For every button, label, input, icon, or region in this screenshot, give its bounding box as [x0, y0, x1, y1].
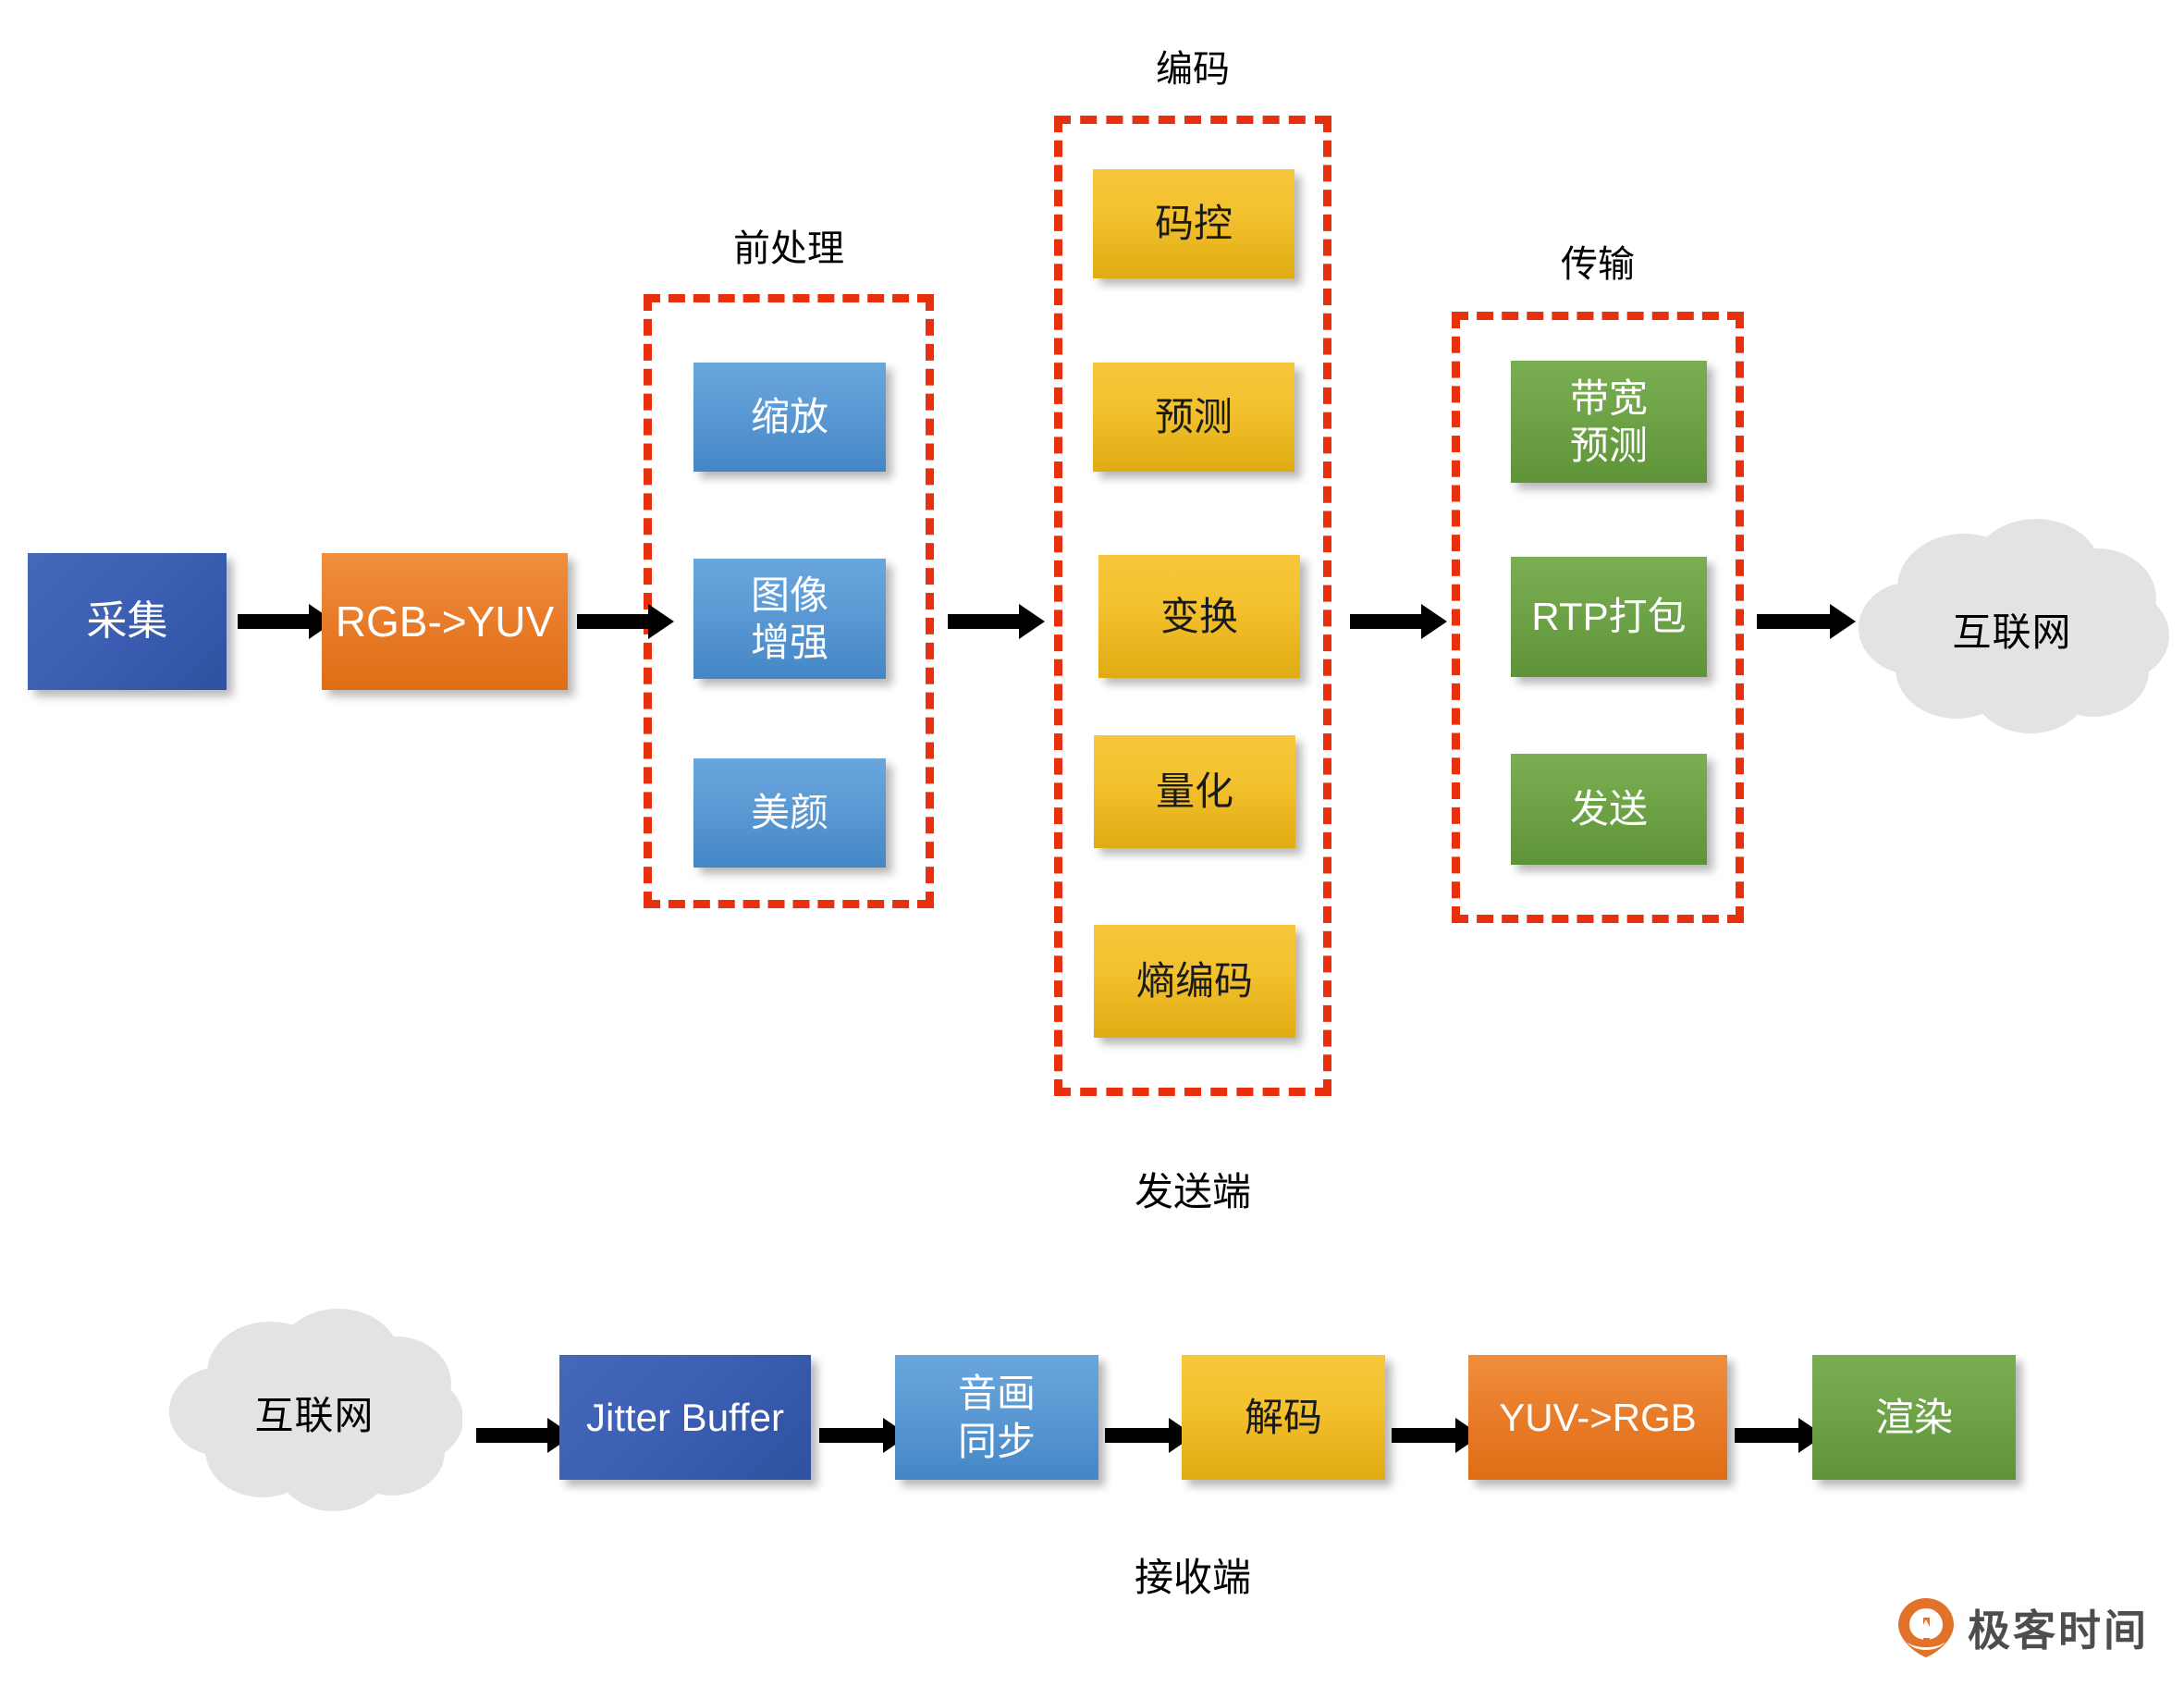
node-rtp-packetize-label: RTP打包: [1511, 593, 1707, 640]
node-rgb2yuv-label: RGB->YUV: [322, 596, 568, 647]
node-quantization-label: 量化: [1094, 768, 1295, 815]
brand-name: 极客时间: [1968, 1597, 2149, 1658]
node-prediction-label: 预测: [1093, 393, 1294, 440]
node-scale-label: 缩放: [693, 393, 886, 440]
node-rtp-packetize[interactable]: RTP打包: [1511, 557, 1707, 677]
group-title-preprocess: 前处理: [644, 218, 934, 272]
cloud-internet-bottom: 互联网: [166, 1302, 462, 1522]
node-entropy-coding[interactable]: 熵编码: [1094, 925, 1295, 1038]
diagram-canvas: 前处理 编码 传输 采集 RGB->YUV 缩放 图像 增强 美颜 码控 预测 …: [0, 0, 2184, 1699]
node-prediction[interactable]: 预测: [1093, 363, 1294, 472]
node-rate-control-label: 码控: [1093, 200, 1294, 247]
node-bandwidth-estimation-label: 带宽 预测: [1511, 375, 1707, 469]
node-av-sync[interactable]: 音画 同步: [895, 1355, 1098, 1480]
node-av-sync-label: 音画 同步: [895, 1370, 1098, 1464]
node-image-enhance-label: 图像 增强: [693, 572, 886, 666]
node-send[interactable]: 发送: [1511, 754, 1707, 865]
node-capture-label: 采集: [28, 597, 227, 646]
cloud-internet-top: 互联网: [1855, 513, 2169, 745]
node-send-label: 发送: [1511, 785, 1707, 832]
caption-receiver: 接收端: [1008, 1546, 1378, 1603]
group-title-transport: 传输: [1452, 234, 1744, 288]
brand-logo: 极客时间: [1897, 1597, 2149, 1658]
node-image-enhance[interactable]: 图像 增强: [693, 559, 886, 679]
node-transform-label: 变换: [1098, 593, 1300, 640]
node-rgb2yuv[interactable]: RGB->YUV: [322, 553, 568, 690]
cloud-internet-top-label: 互联网: [1855, 513, 2169, 745]
node-decode[interactable]: 解码: [1182, 1355, 1385, 1480]
node-entropy-coding-label: 熵编码: [1094, 957, 1295, 1004]
node-jitter-buffer-label: Jitter Buffer: [559, 1394, 811, 1441]
node-jitter-buffer[interactable]: Jitter Buffer: [559, 1355, 811, 1480]
node-capture[interactable]: 采集: [28, 553, 227, 690]
node-beautify-label: 美颜: [693, 789, 886, 836]
node-yuv2rgb-label: YUV->RGB: [1468, 1394, 1727, 1441]
geektime-pin-icon: [1897, 1597, 1955, 1658]
node-beautify[interactable]: 美颜: [693, 758, 886, 868]
cloud-internet-bottom-label: 互联网: [166, 1302, 462, 1522]
node-render-label: 渲染: [1812, 1394, 2016, 1441]
node-rate-control[interactable]: 码控: [1093, 169, 1294, 278]
node-quantization[interactable]: 量化: [1094, 735, 1295, 848]
node-render[interactable]: 渲染: [1812, 1355, 2016, 1480]
group-title-encode: 编码: [1054, 39, 1331, 92]
node-transform[interactable]: 变换: [1098, 555, 1300, 678]
node-bandwidth-estimation[interactable]: 带宽 预测: [1511, 361, 1707, 483]
node-yuv2rgb[interactable]: YUV->RGB: [1468, 1355, 1727, 1480]
node-scale[interactable]: 缩放: [693, 363, 886, 472]
node-decode-label: 解码: [1182, 1394, 1385, 1441]
caption-sender: 发送端: [1008, 1161, 1378, 1217]
